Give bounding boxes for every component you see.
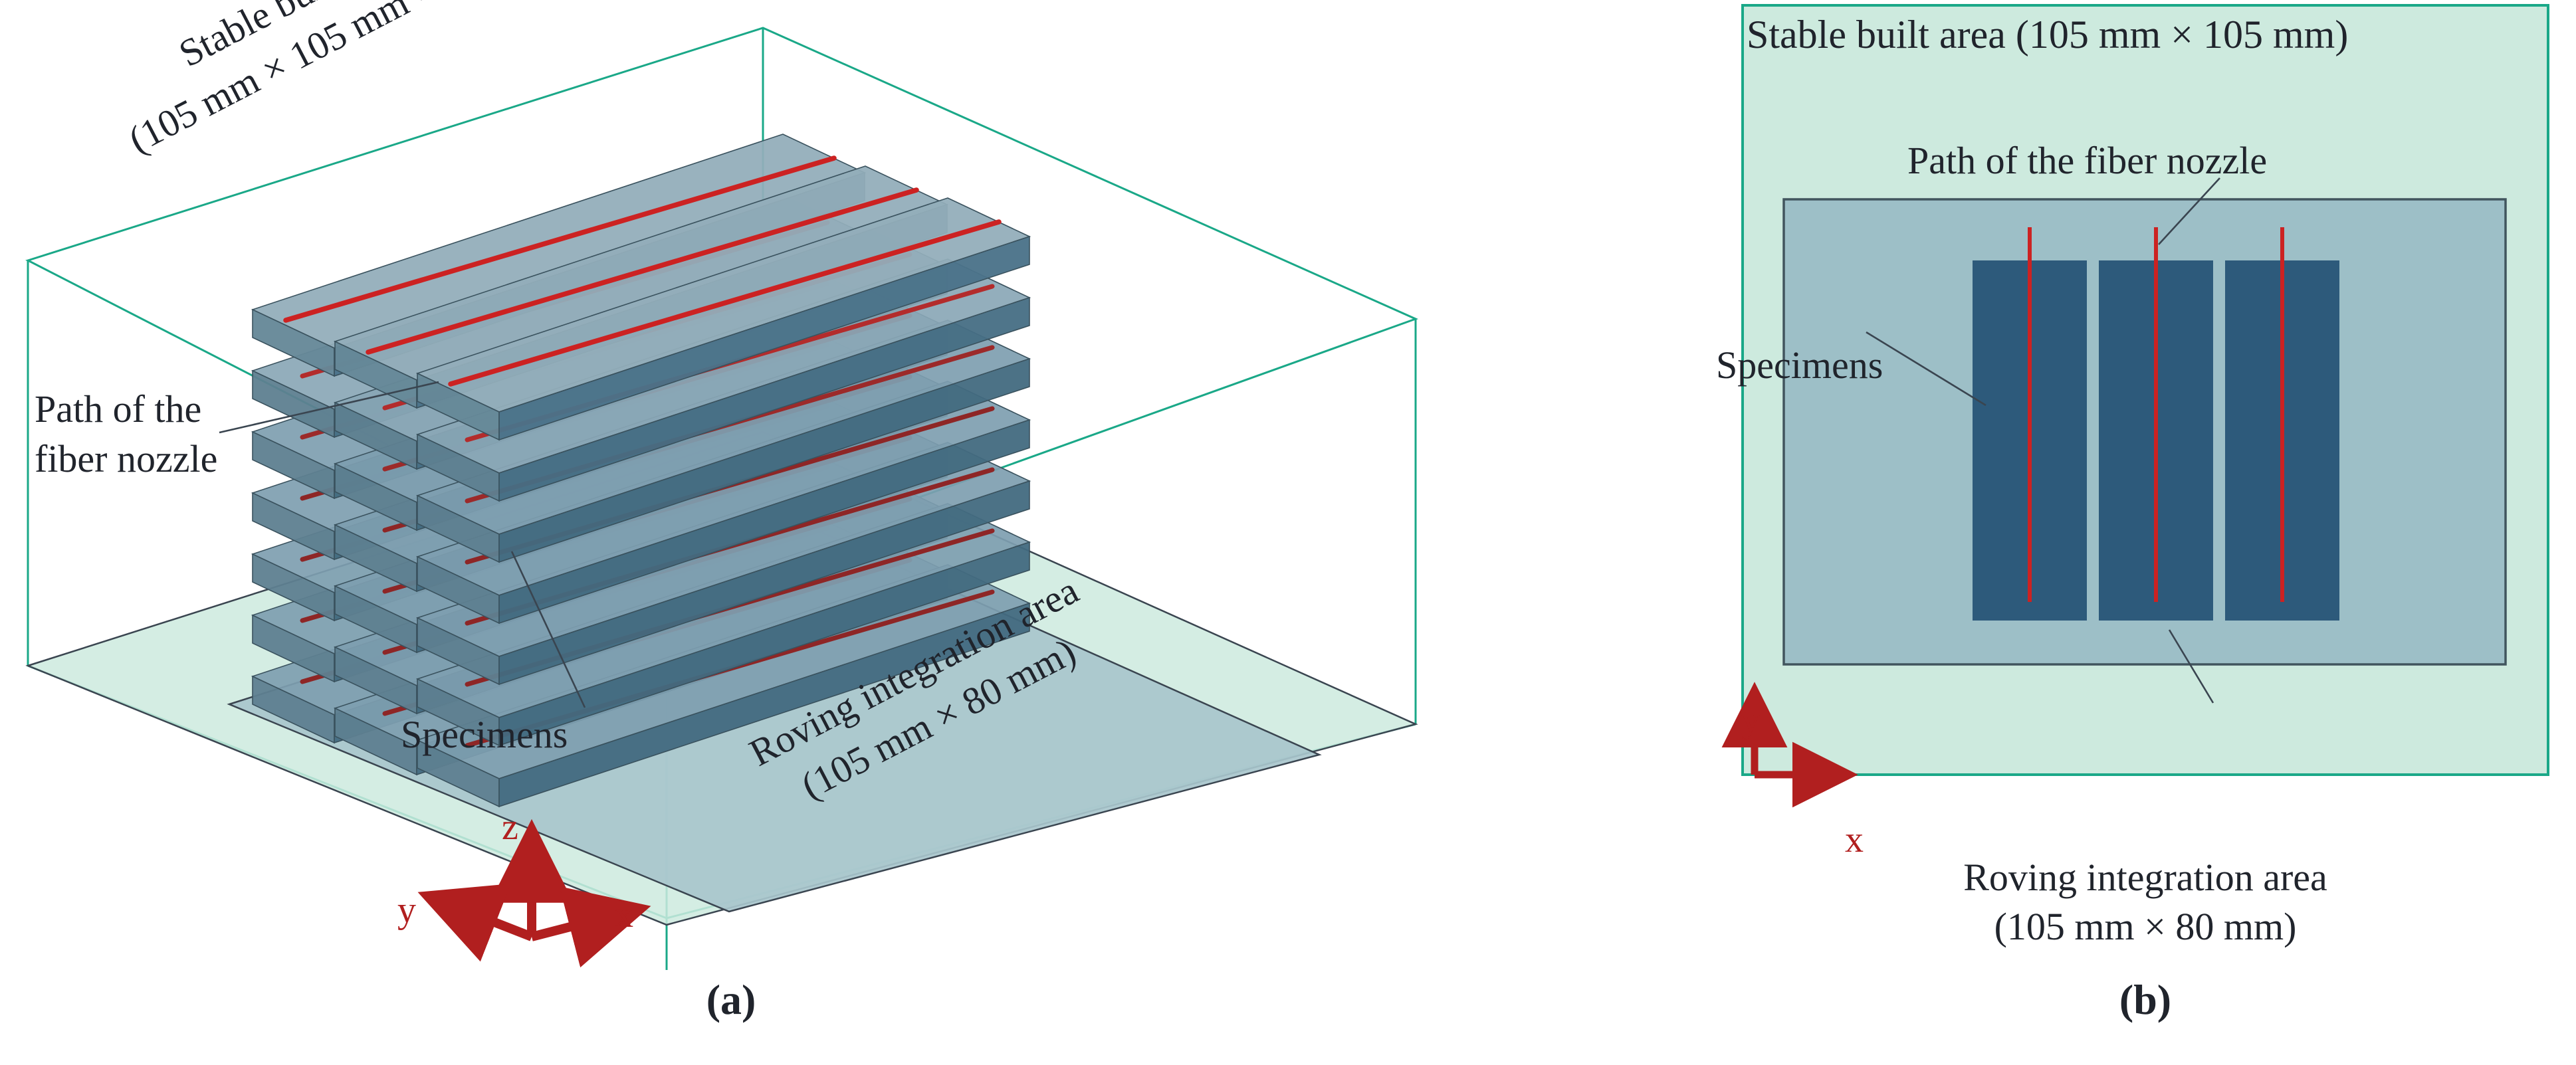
panel-caption-a: (a) xyxy=(0,975,1462,1024)
axis-label-x: x xyxy=(1845,819,1864,861)
panel-b: Stable built area (105 mm × 105 mm) Path… xyxy=(1715,0,2576,1065)
label-roving-integration-area: Roving integration area (105 mm × 80 mm) xyxy=(1715,853,2576,951)
label-path-of-the-fiber-nozzle: Path of the fiber nozzle xyxy=(35,384,314,484)
label-specimens: Specimens xyxy=(1716,343,1883,387)
axis-label-y: y xyxy=(397,889,416,931)
panel-a: Stable built volume (105 mm × 105 mm × 7… xyxy=(0,0,1462,1065)
axis-label-y: y xyxy=(1741,699,1760,741)
label-path-of-the-fiber-nozzle: Path of the fiber nozzle xyxy=(1907,138,2267,183)
y-axis-arrow xyxy=(433,898,532,937)
axis-label-z: z xyxy=(502,806,518,848)
panel-caption-b: (b) xyxy=(1715,975,2576,1024)
label-stable-built-area: Stable built area (105 mm × 105 mm) xyxy=(1747,12,2348,58)
label-specimens: Specimens xyxy=(401,712,568,757)
axis-label-x: x xyxy=(615,894,633,936)
panel-a-drawing xyxy=(0,0,1462,970)
